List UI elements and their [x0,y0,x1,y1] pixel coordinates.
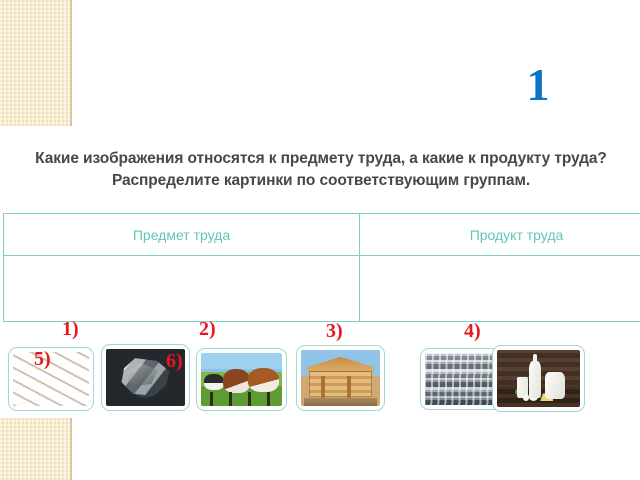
wooden-house-image [301,350,380,406]
lumber-stack-image [13,352,89,406]
table-header-produkt-truda: Продукт труда [360,214,640,256]
beige-texture-panel-bottom [0,418,72,480]
picture-card-4[interactable] [296,345,385,411]
milk-bottle [529,361,541,397]
cow-legs [201,392,282,406]
table-header-predmet-truda: Предмет труда [4,214,360,256]
table-header-produkt-truda-label: Продукт труда [360,226,640,243]
item-number-6: 6) [166,351,183,371]
picture-card-3[interactable] [196,348,287,411]
item-number-1: 1) [62,319,79,339]
picture-card-5[interactable] [420,348,503,410]
table-header-row: Предмет труда Продукт труда [4,214,640,256]
item-number-5: 5) [34,349,51,369]
drop-zone-predmet-truda[interactable] [4,256,360,322]
item-number-4: 4) [464,321,481,341]
category-table: Предмет труда Продукт труда [3,213,640,322]
beige-texture-panel-top [0,0,72,126]
slide-number: 1 [478,60,598,110]
table-body-row [4,256,640,322]
cow-brown-right [248,368,279,392]
drop-zone-produkt-truda[interactable] [360,256,640,322]
picture-card-1[interactable] [8,347,94,411]
parked-cars-rows-image [425,353,498,405]
picture-card-6[interactable] [492,345,585,412]
question-text: Какие изображения относятся к предмету т… [10,148,632,192]
table-header-predmet-truda-label: Предмет труда [4,226,359,243]
cow-black-white [204,374,223,390]
item-number-3: 3) [326,321,343,341]
milk-jug [545,372,565,399]
dairy-products-image [497,350,580,407]
cow-brown-left [223,369,250,393]
house-foundation [304,398,377,406]
item-number-2: 2) [199,319,216,339]
grazing-cows-image [201,353,282,406]
